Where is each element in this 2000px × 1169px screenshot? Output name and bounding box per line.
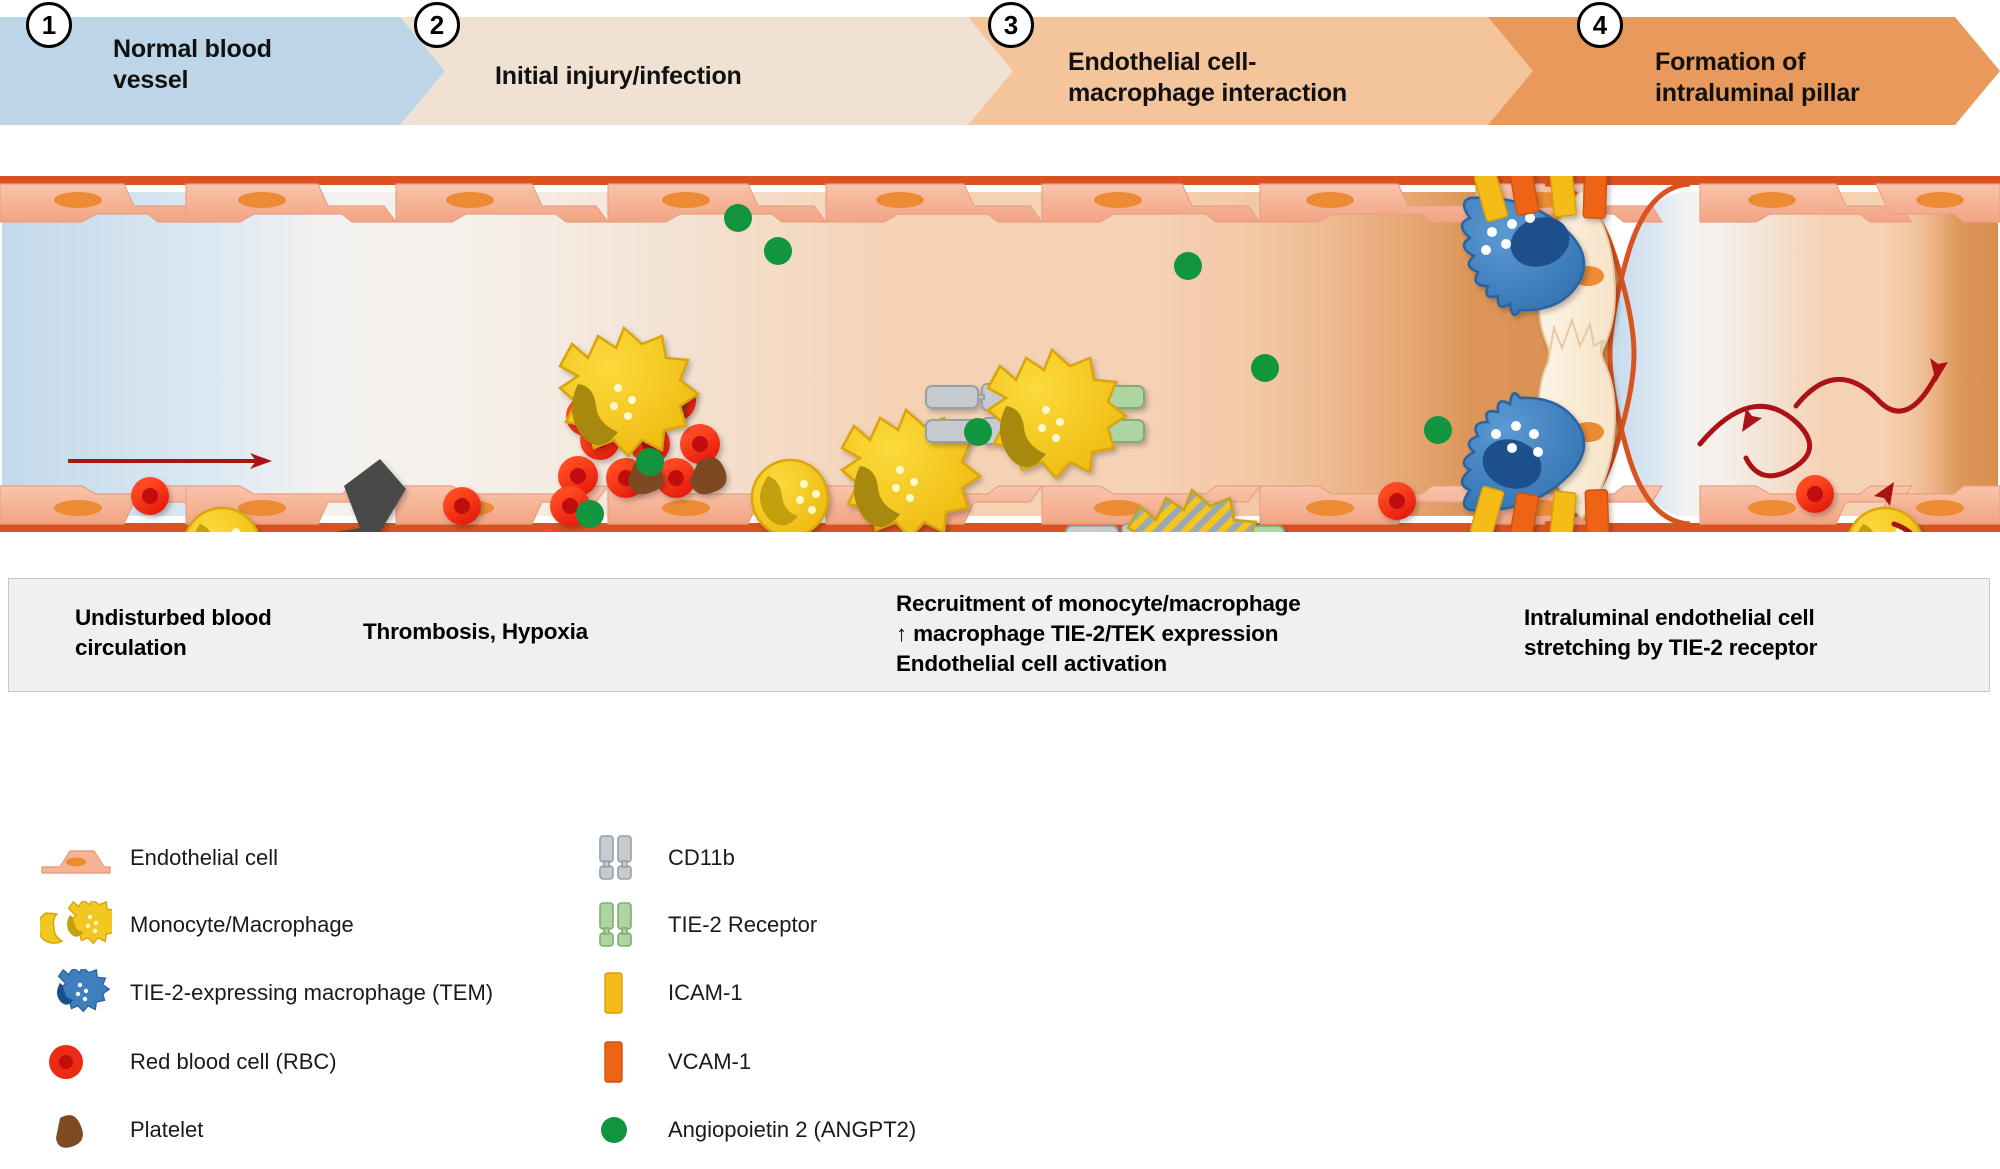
platelet-icon xyxy=(40,1102,112,1158)
legend-label: Angiopoietin 2 (ANGPT2) xyxy=(668,1117,916,1143)
angpt2-dot-icon xyxy=(576,500,604,528)
rbc xyxy=(1796,475,1834,513)
tie2-receptor-icon xyxy=(578,897,650,953)
angpt2-dot-icon xyxy=(1424,416,1452,444)
legend-item-angpt2: Angiopoietin 2 (ANGPT2) xyxy=(578,1102,916,1158)
angpt2-dot-icon xyxy=(1251,354,1279,382)
rbc xyxy=(1378,482,1416,520)
legend-item-monocyte: Monocyte/Macrophage xyxy=(40,897,354,953)
legend-item-tie2-receptor: TIE-2 Receptor xyxy=(578,897,817,953)
stage-label-4: Formation of intraluminal pillar xyxy=(1655,47,1985,108)
legend-item-platelet: Platelet xyxy=(40,1102,203,1158)
legend-label: Monocyte/Macrophage xyxy=(130,912,354,938)
legend: Endothelial cell Monocyte/Macrophage TIE… xyxy=(0,800,2000,1169)
caption-bar: Undisturbed blood circulation Thrombosis… xyxy=(8,578,1990,692)
rbc xyxy=(131,477,169,515)
legend-item-vcam1: VCAM-1 xyxy=(578,1034,751,1090)
legend-item-endothelial-cell: Endothelial cell xyxy=(40,830,278,886)
monocyte-icon xyxy=(40,897,112,953)
stage-label-2: Initial injury/infection xyxy=(495,61,925,92)
legend-label: TIE-2-expressing macrophage (TEM) xyxy=(130,980,493,1006)
angpt2-dot-icon xyxy=(1174,252,1202,280)
angpt2-dot-icon xyxy=(724,204,752,232)
legend-item-cd11b: CD11b xyxy=(578,830,735,886)
vcam1-bar-icon xyxy=(578,1034,650,1090)
legend-item-rbc: Red blood cell (RBC) xyxy=(40,1034,337,1090)
monocyte xyxy=(752,460,828,532)
endothelial-cell-icon xyxy=(40,830,112,886)
legend-label: CD11b xyxy=(668,845,735,871)
caption-1: Undisturbed blood circulation xyxy=(75,603,395,663)
caption-2: Thrombosis, Hypoxia xyxy=(363,617,723,647)
rbc xyxy=(443,487,481,525)
legend-label: TIE-2 Receptor xyxy=(668,912,817,938)
vessel-lumen-right xyxy=(1608,192,1998,516)
tem-cell-icon xyxy=(40,965,112,1021)
angpt2-dot-icon xyxy=(636,448,664,476)
cd11b-receptor-icon xyxy=(578,830,650,886)
caption-4: Intraluminal endothelial cell stretching… xyxy=(1524,603,2000,663)
stage-number-3: 3 xyxy=(988,2,1034,48)
angpt2-dot-icon xyxy=(764,237,792,265)
angpt2-dot-icon xyxy=(578,1102,650,1158)
vessel-lumen xyxy=(2,192,1632,516)
stage-header: 1 2 3 4 Normal blood vessel Initial inju… xyxy=(0,17,2000,125)
angpt2-dot-icon xyxy=(964,418,992,446)
stage-label-3: Endothelial cell- macrophage interaction xyxy=(1068,47,1488,108)
stage-number-4: 4 xyxy=(1577,2,1623,48)
stage-number-1: 1 xyxy=(26,2,72,48)
legend-label: Endothelial cell xyxy=(130,845,278,871)
icam1-bar-icon xyxy=(578,965,650,1021)
legend-label: ICAM-1 xyxy=(668,980,743,1006)
caption-3: Recruitment of monocyte/macrophage ↑ mac… xyxy=(896,589,1456,679)
legend-label: Red blood cell (RBC) xyxy=(130,1049,337,1075)
legend-item-icam1: ICAM-1 xyxy=(578,965,743,1021)
legend-item-tem-cell: TIE-2-expressing macrophage (TEM) xyxy=(40,965,493,1021)
vessel-illustration xyxy=(0,176,2000,532)
legend-label: VCAM-1 xyxy=(668,1049,751,1075)
stage-number-2: 2 xyxy=(414,2,460,48)
stage-label-1: Normal blood vessel xyxy=(113,34,343,95)
legend-label: Platelet xyxy=(130,1117,203,1143)
rbc-icon xyxy=(40,1034,112,1090)
